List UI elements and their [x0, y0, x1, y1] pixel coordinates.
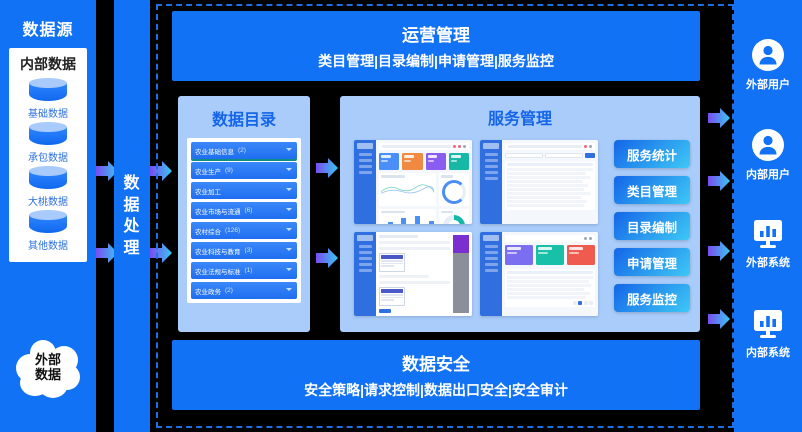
- flow-arrow-platform-to-consumer: [706, 238, 732, 264]
- chevron-down-icon[interactable]: [286, 268, 292, 271]
- monitor-chart-icon: [734, 308, 802, 340]
- data-catalog-panel: 数据目录 农业基础信息 (2) 农业生产 (9) 农业加工 农业市场与流通 (6…: [178, 96, 310, 332]
- database-label: 基础数据: [28, 105, 68, 120]
- data-security-title: 数据安全: [402, 350, 470, 375]
- database-item[interactable]: 其他数据: [28, 210, 68, 252]
- catalog-item-count: (2): [225, 287, 233, 294]
- consumer-external-system[interactable]: 外部系统: [734, 218, 802, 270]
- consumer-internal-system[interactable]: 内部系统: [734, 308, 802, 360]
- database-item[interactable]: 承包数据: [28, 122, 68, 164]
- consumer-column: 外部用户 内部用户 外部系统: [734, 0, 802, 432]
- service-button-category[interactable]: 类目管理: [614, 176, 690, 204]
- consumer-external-user[interactable]: 外部用户: [734, 38, 802, 92]
- service-button-apply[interactable]: 申请管理: [614, 248, 690, 276]
- external-data-line2: 数据: [35, 368, 61, 383]
- screenshot-dashboard-overview[interactable]: [354, 140, 472, 224]
- catalog-list-item[interactable]: 农业加工: [191, 182, 297, 199]
- catalog-item-name: 农业基础信息: [195, 146, 234, 156]
- internal-data-title: 内部数据: [9, 54, 87, 74]
- database-label: 其他数据: [28, 237, 68, 252]
- chevron-down-icon[interactable]: [286, 208, 292, 211]
- data-source-column: 数据源 内部数据 基础数据 承包数据 大桃数据 其他数据: [0, 0, 96, 432]
- data-catalog-title: 数据目录: [178, 106, 310, 130]
- chevron-down-icon[interactable]: [286, 168, 292, 171]
- consumer-label: 内部用户: [734, 166, 802, 182]
- service-management-panel: 服务管理: [340, 96, 700, 332]
- database-list: 基础数据 承包数据 大桃数据 其他数据: [9, 78, 87, 254]
- flow-arrow-platform-to-consumer: [706, 306, 732, 332]
- monitor-chart-icon: [734, 218, 802, 250]
- database-icon: [29, 210, 67, 236]
- external-data-label: 外部 数据: [14, 336, 82, 400]
- operation-management-banner[interactable]: 运营管理 类目管理|目录编制|申请管理|服务监控: [172, 11, 700, 81]
- flow-arrow-catalog-to-service: [314, 245, 340, 271]
- catalog-item-name: 农业政务: [195, 286, 221, 296]
- data-source-title: 数据源: [0, 16, 96, 40]
- chevron-down-icon[interactable]: [286, 188, 292, 191]
- catalog-item-name: 农业法规与标准: [195, 266, 241, 276]
- screenshot-catalog-table-list[interactable]: [480, 140, 598, 224]
- database-icon: [29, 166, 67, 192]
- database-label: 大桃数据: [28, 193, 68, 208]
- database-icon: [29, 78, 67, 104]
- internal-data-box: 内部数据 基础数据 承包数据 大桃数据 其他数据: [9, 48, 87, 262]
- consumer-label: 内部系统: [734, 344, 802, 360]
- external-data-line1: 外部: [35, 353, 61, 368]
- flow-arrow-catalog-to-service: [314, 155, 340, 181]
- database-item[interactable]: 大桃数据: [28, 166, 68, 208]
- catalog-item-name: 农业科技与教育: [195, 246, 241, 256]
- catalog-list-item[interactable]: 农业法规与标准 (1): [191, 262, 297, 279]
- catalog-item-name: 农业市场与流通: [195, 206, 241, 216]
- catalog-item-count: (1): [245, 267, 253, 274]
- screenshot-service-monitor[interactable]: [480, 232, 598, 316]
- catalog-item-name: 农业加工: [195, 186, 221, 196]
- user-icon: [734, 128, 802, 162]
- operation-management-title: 运营管理: [402, 21, 470, 46]
- catalog-list-item[interactable]: 农村综合 (126): [191, 222, 297, 239]
- catalog-list-item[interactable]: 农业生产 (9): [191, 162, 297, 179]
- screenshot-catalog-edit-form[interactable]: [354, 232, 472, 316]
- diagram-canvas: 数据源 内部数据 基础数据 承包数据 大桃数据 其他数据: [0, 0, 802, 432]
- catalog-item-count: (2): [238, 147, 246, 154]
- service-button-catalog[interactable]: 目录编制: [614, 212, 690, 240]
- consumer-internal-user[interactable]: 内部用户: [734, 128, 802, 182]
- chevron-down-icon[interactable]: [286, 148, 292, 151]
- external-data-cloud[interactable]: 外部 数据: [14, 336, 82, 400]
- catalog-item-count: (3): [245, 247, 253, 254]
- catalog-item-count: (9): [225, 167, 233, 174]
- data-security-banner[interactable]: 数据安全 安全策略|请求控制|数据出口安全|安全审计: [172, 340, 700, 410]
- service-button-stats[interactable]: 服务统计: [614, 140, 690, 168]
- catalog-item-count: (126): [225, 227, 240, 234]
- catalog-list-item[interactable]: 农业政务 (2): [191, 282, 297, 299]
- chevron-down-icon[interactable]: [286, 248, 292, 251]
- service-button-monitor[interactable]: 服务监控: [614, 284, 690, 312]
- catalog-list-item[interactable]: 农业基础信息 (2): [191, 142, 297, 159]
- database-icon: [29, 122, 67, 148]
- operation-management-subtitle: 类目管理|目录编制|申请管理|服务监控: [318, 51, 554, 71]
- catalog-item-name: 农业生产: [195, 166, 221, 176]
- service-management-title: 服务管理: [340, 105, 700, 129]
- consumer-label: 外部系统: [734, 254, 802, 270]
- data-process-label: 数据处理: [114, 173, 150, 259]
- data-process-column: 数据处理: [114, 0, 150, 432]
- catalog-list-item[interactable]: 农业科技与教育 (3): [191, 242, 297, 259]
- catalog-list-item[interactable]: 农业市场与流通 (6): [191, 202, 297, 219]
- catalog-item-name: 农村综合: [195, 226, 221, 236]
- service-button-list: 服务统计 类目管理 目录编制 申请管理 服务监控: [614, 140, 690, 312]
- consumer-label: 外部用户: [734, 76, 802, 92]
- database-item[interactable]: 基础数据: [28, 78, 68, 120]
- database-label: 承包数据: [28, 149, 68, 164]
- user-icon: [734, 38, 802, 72]
- catalog-item-count: (6): [245, 207, 253, 214]
- chevron-down-icon[interactable]: [286, 288, 292, 291]
- flow-arrow-platform-to-consumer: [706, 168, 732, 194]
- data-security-subtitle: 安全策略|请求控制|数据出口安全|安全审计: [304, 380, 568, 400]
- chevron-down-icon[interactable]: [286, 228, 292, 231]
- flow-arrow-platform-to-consumer: [706, 105, 732, 131]
- catalog-list: 农业基础信息 (2) 农业生产 (9) 农业加工 农业市场与流通 (6) 农村综…: [187, 138, 301, 303]
